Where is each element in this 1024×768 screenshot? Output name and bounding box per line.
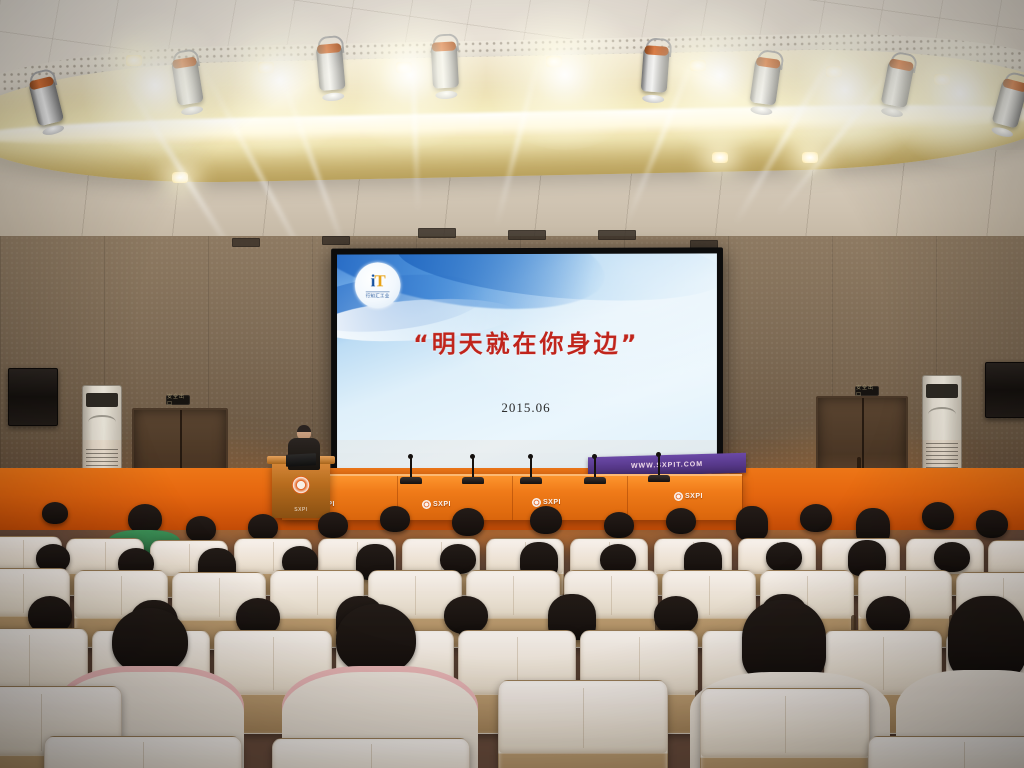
audience-head (866, 596, 910, 634)
slide-logo: iT 行知汇工业 (355, 262, 401, 308)
audience-head (742, 600, 826, 682)
chair[interactable] (700, 688, 870, 768)
slide-title: “明天就在你身边” (337, 324, 717, 359)
downlight-icon (802, 152, 818, 163)
audience-head (380, 506, 410, 532)
spotlight-icon (316, 43, 347, 99)
chair[interactable] (868, 736, 1024, 768)
exit-sign-icon: 安全出口 (166, 395, 190, 405)
slide-logo-mark: iT (371, 272, 385, 289)
projection-screen: iT 行知汇工业 “明天就在你身边” 2015.06 (331, 247, 723, 480)
audience-head (248, 514, 278, 540)
loudspeaker-icon (985, 362, 1024, 418)
slide-logo-subtitle: 行知汇工业 (366, 291, 390, 299)
microphone-icon (520, 452, 542, 484)
loudspeaker-icon (8, 368, 58, 426)
audience-head (452, 508, 484, 536)
chair[interactable] (272, 738, 470, 768)
downlight-icon (172, 172, 188, 183)
audience-head (530, 506, 562, 534)
downlight-icon (690, 60, 706, 71)
audience-area (0, 500, 1024, 768)
podium-logo-icon (292, 476, 310, 494)
downlight-icon (934, 74, 950, 85)
audience-head (444, 596, 488, 634)
spotlight-icon (640, 45, 670, 101)
downlight-icon (258, 62, 274, 73)
ceiling-vent (418, 228, 456, 238)
audience-head (666, 508, 696, 534)
audience-head (736, 506, 768, 540)
audience-head (654, 596, 698, 634)
microphone-icon (584, 452, 606, 484)
slide-surface: iT 行知汇工业 “明天就在你身边” 2015.06 (337, 253, 717, 472)
downlight-icon (826, 66, 842, 77)
downlight-icon (712, 152, 728, 163)
chair[interactable] (44, 736, 242, 768)
audience-head (766, 542, 802, 572)
microphone-icon (400, 452, 422, 484)
audience-head (186, 516, 216, 542)
audience-head (922, 502, 954, 530)
presenter (288, 425, 320, 469)
downlight-icon (396, 62, 412, 73)
slide-date: 2015.06 (337, 400, 717, 416)
sxpi-label: SXPI (685, 493, 703, 500)
audience-head (112, 608, 188, 674)
audience-head (800, 504, 832, 532)
microphone-icon (462, 452, 484, 484)
ceiling-vent (322, 236, 350, 245)
audience-head (604, 512, 634, 538)
audience-head (934, 542, 970, 572)
microphone-icon (648, 450, 670, 482)
audience-head (318, 512, 348, 538)
auditorium-photo: 安全出口 安全出口 iT 行知汇工业 “明天就在你身边” 2015.06 WWW… (0, 0, 1024, 768)
ceiling-vent (508, 230, 546, 240)
audience-head (336, 604, 416, 674)
audience-head (976, 510, 1008, 538)
exit-sign-text-left: 安全出口 (167, 393, 189, 407)
downlight-icon (126, 55, 142, 66)
ceiling-vent (598, 230, 636, 240)
ceiling-vent (232, 238, 260, 247)
presenter-laptop (286, 453, 316, 467)
audience-head (42, 502, 68, 524)
spotlight-icon (431, 41, 460, 96)
chair[interactable] (498, 680, 668, 768)
audience-head (948, 596, 1024, 680)
exit-sign-icon: 安全出口 (855, 386, 879, 396)
downlight-icon (546, 56, 562, 67)
